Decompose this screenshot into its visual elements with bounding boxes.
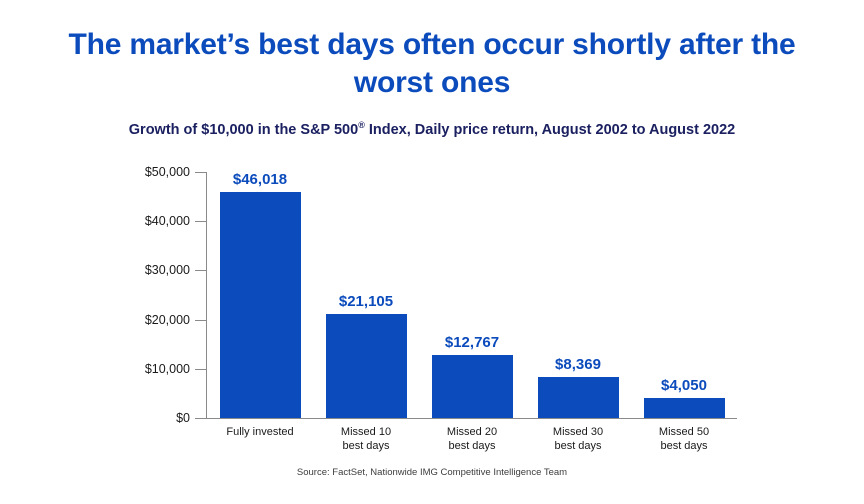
- source-note: Source: FactSet, Nationwide IMG Competit…: [0, 467, 864, 478]
- bar-value-label: $21,105: [312, 293, 421, 310]
- bar-value-label: $8,369: [524, 356, 633, 373]
- plot-area: $46,018$21,105$12,767$8,369$4,050: [207, 172, 737, 418]
- y-axis-tick: [195, 369, 207, 370]
- bar[interactable]: [644, 398, 725, 418]
- x-axis-category-label: Missed 50 best days: [626, 425, 743, 453]
- y-axis-tick-label: $20,000: [108, 313, 190, 327]
- y-axis-tick: [195, 221, 207, 222]
- y-axis-tick: [195, 418, 207, 419]
- bar-value-label: $46,018: [206, 171, 315, 188]
- y-axis-tick-label: $40,000: [108, 214, 190, 228]
- bar[interactable]: [432, 355, 513, 418]
- bar-value-label: $12,767: [418, 334, 527, 351]
- x-axis-line: [207, 418, 737, 419]
- bar[interactable]: [220, 192, 301, 418]
- x-axis-category-label: Missed 10 best days: [308, 425, 425, 453]
- x-axis-category-label: Missed 30 best days: [520, 425, 637, 453]
- bar[interactable]: [326, 314, 407, 418]
- y-axis-tick-label: $0: [108, 411, 190, 425]
- y-axis-tick-label: $10,000: [108, 362, 190, 376]
- bar-value-label: $4,050: [630, 377, 739, 394]
- y-axis-tick-label: $30,000: [108, 263, 190, 277]
- x-axis-category-label: Fully invested: [202, 425, 319, 439]
- bar-chart: $0$10,000$20,000$30,000$40,000$50,000 $4…: [0, 0, 864, 504]
- x-axis-category-label: Missed 20 best days: [414, 425, 531, 453]
- y-axis-tick: [195, 270, 207, 271]
- y-axis-tick-label: $50,000: [108, 165, 190, 179]
- bar[interactable]: [538, 377, 619, 418]
- y-axis-tick: [195, 320, 207, 321]
